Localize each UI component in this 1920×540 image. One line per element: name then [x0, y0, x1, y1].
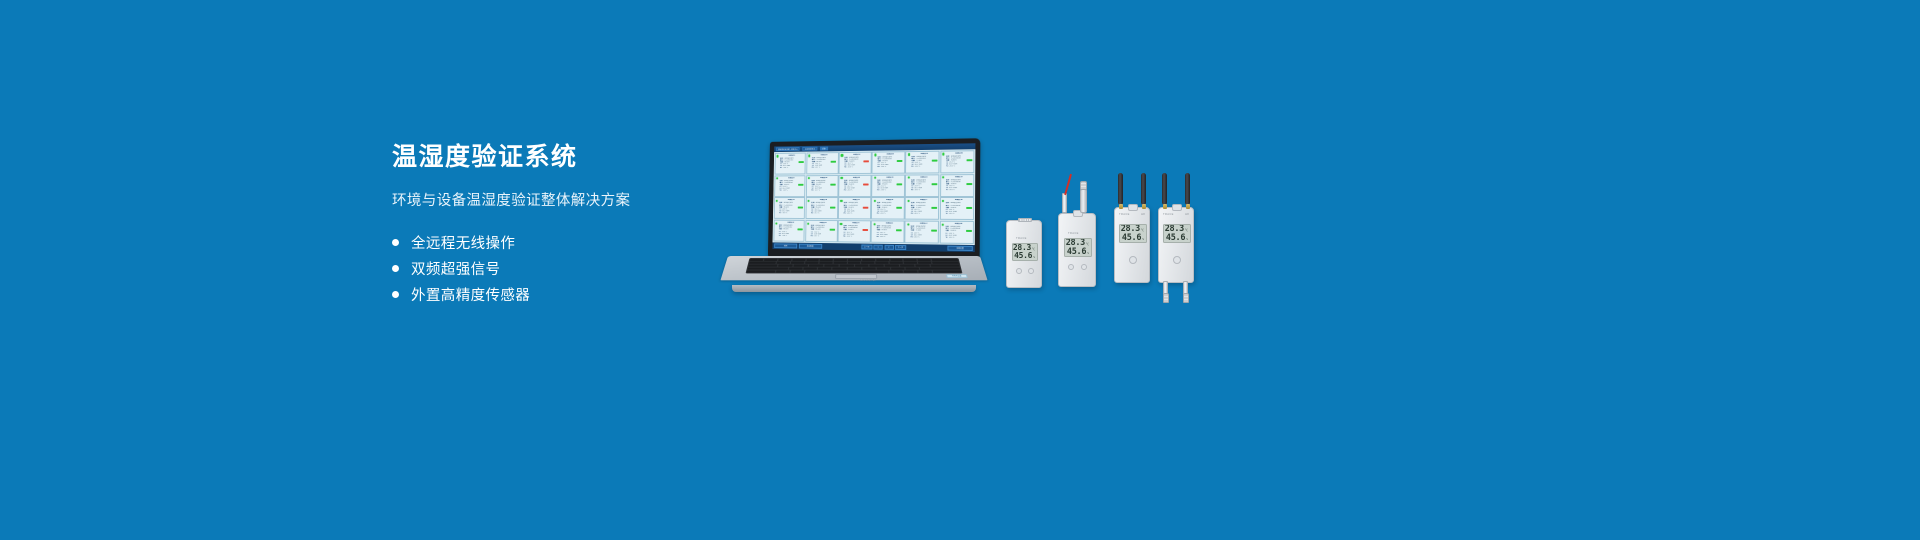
sensor-card[interactable]: 监测点14设备:温湿度记录仪编号:TC20250102电量:96.10%T1:2…: [806, 197, 838, 219]
sensor-field-value: 23.8 ℃: [782, 212, 803, 214]
sensor-card-row: H1:23.5 ℃: [946, 166, 972, 168]
sensor-field-label: H1:: [844, 167, 847, 169]
sensor-card[interactable]: 监测点06设备:温湿度记录仪编号:TC20250106电量:95.80%T1:2…: [940, 150, 975, 173]
sensor-field-label: H1:: [911, 213, 914, 215]
sensor-field-value: 23.4 ℃: [881, 189, 903, 191]
sensor-field-value: 23.8 ℃: [783, 167, 804, 169]
humidity-reading: 45.6 %: [1166, 234, 1188, 243]
antenna-left-icon: [1118, 173, 1123, 205]
bullet-dot-icon: [392, 291, 399, 298]
laptop-deck-surface: HUAWEI TRACE: [720, 256, 987, 280]
sensor-card[interactable]: 监测点17设备:温湿度记录仪编号:TC20250105电量:97.30%T1:2…: [905, 197, 939, 220]
sensor-card[interactable]: 监测点15设备:温湿度记录仪编号:TC20250103电量:91.40%T1:2…: [838, 197, 871, 219]
list-item: 全远程无线操作: [392, 230, 722, 255]
sensor-card-row: H1:23.8 ℃: [779, 190, 803, 192]
status-led-icon: [809, 155, 811, 157]
sensor-field-label: H1:: [945, 213, 948, 215]
sensor-field-value: 23.4 ℃: [880, 213, 902, 215]
probe-sensor-mesh: [1080, 181, 1087, 190]
device-brand-label: TRACE: [1163, 213, 1174, 216]
humidity-reading: 45.6 %: [1122, 234, 1144, 243]
sensor-card-row: H1:24.3 ℃: [844, 212, 869, 214]
device-display: 28.3 ℃ 45.6 %: [1012, 243, 1038, 261]
sensor-field-label: H1:: [911, 189, 914, 191]
device-button[interactable]: [1173, 256, 1181, 264]
screen-toolbar-button[interactable]: 导出数据: [798, 244, 821, 249]
sensor-field-value: 24.3 ℃: [847, 235, 868, 237]
status-led-icon: [808, 222, 810, 224]
laptop-sticker: TRACE: [946, 274, 968, 278]
sensor-field-label: H1:: [946, 189, 949, 191]
device-button[interactable]: [1016, 268, 1022, 274]
screen-toolbar-button[interactable]: 2: [884, 245, 893, 250]
laptop-base: HUAWEI TRACE: [720, 256, 988, 298]
sensor-card-row: H1:23.4 ℃: [877, 236, 902, 238]
sensor-field-label: H1:: [811, 212, 814, 214]
feature-label: 全远程无线操作: [411, 232, 515, 253]
device-button[interactable]: [1028, 268, 1034, 274]
humidity-reading: 45.6 %: [1067, 248, 1089, 257]
sensor-card-row: H1:24.3 ℃: [844, 190, 869, 192]
device-hanger: [1128, 204, 1138, 211]
sensor-field-label: H1:: [843, 235, 846, 237]
product-banner: 温湿度验证系统 环境与设备温湿度验证整体解决方案 全远程无线操作 双频超强信号 …: [0, 0, 1920, 540]
humidity-value: 45.6: [1166, 234, 1185, 243]
sensor-field-label: H1:: [811, 190, 814, 192]
toolbar-spacer: [823, 246, 860, 247]
sensor-card-row: H1:24.3 ℃: [843, 235, 868, 237]
status-led-icon: [907, 223, 909, 225]
sensor-card[interactable]: 监测点21设备:温湿度记录仪编号:TC20250103电量:91.40%T1:2…: [838, 220, 871, 243]
probe-sensor-mesh: [1163, 293, 1169, 303]
sensor-card[interactable]: 监测点20设备:温湿度记录仪编号:TC20250102电量:96.10%T1:2…: [805, 220, 837, 242]
device-display: 28.3 ℃ 45.6 %: [1163, 224, 1191, 243]
sensor-card[interactable]: 监测点23设备:温湿度记录仪编号:TC20250105电量:97.30%T1:2…: [905, 221, 939, 244]
temperature-unit: ℃: [1141, 229, 1144, 232]
page-title: 温湿度验证系统: [392, 142, 722, 172]
sensor-field-value: 23.8 ℃: [782, 235, 803, 237]
sensor-field-value: 23.4 ℃: [881, 166, 903, 168]
status-led-icon: [777, 155, 779, 157]
status-led-icon: [808, 177, 810, 179]
keyboard[interactable]: [746, 258, 963, 273]
status-led-icon: [908, 177, 910, 179]
device-model-label: H8: [1141, 213, 1145, 216]
device-logger-dual-antenna-probe: TRACE H8 28.3 ℃ 45.6 %: [1158, 207, 1194, 283]
antenna-right-icon: [1141, 173, 1146, 205]
sensor-field-value: 24.3 ℃: [847, 190, 868, 192]
sensor-card[interactable]: 监测点03设备:温湿度记录仪编号:TC20250103电量:91.40%T1:2…: [839, 151, 872, 174]
sensor-card-row: H1:23.4 ℃: [877, 166, 902, 168]
humidity-unit: %: [1142, 238, 1144, 241]
sensor-field-value: 23.7 ℃: [815, 190, 836, 192]
screen-toolbar-button[interactable]: 系统设置: [947, 246, 972, 251]
screen-toolbar-button[interactable]: 刷新: [774, 243, 797, 248]
screen-toolbar-button[interactable]: 1: [873, 245, 882, 250]
tab-history-query[interactable]: 历史数据查询: [803, 147, 818, 151]
feature-label: 外置高精度传感器: [411, 284, 530, 305]
tab-monitoring-center[interactable]: 温湿度验证系统 - 监测中心: [776, 147, 800, 151]
sensor-card[interactable]: 监测点09设备:温湿度记录仪编号:TC20250103电量:91.40%T1:2…: [838, 174, 871, 196]
status-led-icon: [840, 223, 842, 225]
sensor-card[interactable]: 监测点04设备:温湿度记录仪编号:TC20250104电量:99.00%T1:2…: [872, 151, 905, 174]
sensor-card-row: H1:23.7 ℃: [811, 235, 835, 237]
sensor-field-label: H1:: [812, 167, 815, 169]
sensor-field-label: H1:: [877, 213, 880, 215]
sensor-card[interactable]: 监测点12设备:温湿度记录仪编号:TC20250106电量:95.80%T1:2…: [940, 174, 975, 197]
probe-body: [1080, 189, 1087, 213]
sensor-field-label: H1:: [811, 235, 814, 237]
sensor-card-row: H1:24.0 ℃: [911, 189, 937, 191]
sensor-field-label: H1:: [779, 212, 782, 214]
sensor-field-label: H1:: [844, 190, 847, 192]
sensor-field-label: H1:: [911, 166, 914, 168]
humidity-unit: %: [1186, 238, 1188, 241]
sensor-field-value: 24.3 ℃: [848, 167, 869, 169]
sensor-card[interactable]: 监测点05设备:温湿度记录仪编号:TC20250105电量:97.30%T1:2…: [906, 151, 940, 174]
temperature-unit: ℃: [1032, 248, 1035, 251]
status-led-icon: [874, 200, 876, 202]
sensor-card-row: H1:23.8 ℃: [780, 167, 804, 169]
status-led-icon: [776, 177, 778, 179]
sensor-field-value: 23.5 ℃: [949, 236, 972, 238]
sensor-field-label: H1:: [779, 190, 782, 192]
sensor-field-label: H1:: [877, 189, 880, 191]
screen-toolbar-button[interactable]: 上一页: [861, 245, 872, 250]
device-display: 28.3 ℃ 45.6 %: [1064, 238, 1092, 257]
status-led-icon: [841, 154, 843, 156]
humidity-reading: 45.6 %: [1015, 252, 1035, 260]
banner-subtitle: 环境与设备温湿度验证整体解决方案: [392, 189, 722, 210]
sensor-card-row: H1:24.0 ℃: [911, 166, 937, 168]
sensor-field-label: H1:: [877, 166, 880, 168]
temperature-unit: ℃: [1185, 229, 1188, 232]
sensor-field-label: H1:: [844, 212, 847, 214]
sensor-field-label: H1:: [779, 235, 782, 237]
sensor-card[interactable]: 监测点11设备:温湿度记录仪编号:TC20250105电量:97.30%T1:2…: [905, 174, 939, 197]
list-item: 外置高精度传感器: [392, 282, 722, 307]
sensor-card[interactable]: 监测点24设备:温湿度记录仪编号:TC20250106电量:95.80%T1:2…: [939, 221, 974, 244]
sensor-field-value: 23.5 ℃: [949, 166, 972, 168]
humidity-unit: %: [1087, 252, 1089, 255]
sensor-card-row: H1:23.5 ℃: [945, 236, 971, 238]
sensor-card-row: H1:23.8 ℃: [779, 212, 803, 214]
device-display: 28.3 ℃ 45.6 %: [1119, 224, 1147, 243]
sensor-field-value: 23.7 ℃: [814, 235, 835, 237]
status-led-icon: [874, 154, 876, 156]
device-button[interactable]: [1129, 256, 1137, 264]
sensor-field-label: H1:: [911, 236, 914, 238]
antenna-left-icon: [1162, 173, 1167, 205]
list-item: 双频超强信号: [392, 256, 722, 281]
laptop-brand-label: HUAWEI: [860, 278, 877, 281]
probe-sensor-mesh: [1183, 293, 1189, 303]
status-led-icon: [942, 200, 944, 202]
sensor-card[interactable]: 监测点07设备:温湿度记录仪编号:TC20250101电量:98.50%T1:2…: [774, 175, 806, 197]
sensor-field-value: 24.0 ℃: [915, 189, 937, 191]
sensor-field-value: 23.7 ℃: [814, 212, 835, 214]
device-brand-label: TRACE: [1016, 237, 1027, 240]
sensor-card[interactable]: 监测点16设备:温湿度记录仪编号:TC20250104电量:99.00%T1:2…: [871, 197, 904, 220]
screen-toolbar-button[interactable]: 下一页: [895, 245, 906, 250]
humidity-value: 45.6: [1067, 248, 1086, 257]
laptop-screen: 温湿度验证系统 - 监测中心 历史数据查询 报警 监测点01设备:温湿度记录仪编…: [772, 143, 975, 252]
humidity-value: 45.6: [1122, 234, 1141, 243]
device-button[interactable]: [1068, 264, 1074, 270]
probe-connector: [1062, 193, 1067, 213]
sensor-card-row: H1:24.0 ℃: [911, 236, 937, 238]
toolbar-spacer: [907, 248, 946, 249]
sensor-field-value: 23.5 ℃: [949, 189, 972, 191]
sensor-card-row: H1:24.3 ℃: [844, 167, 869, 169]
status-led-icon: [776, 222, 778, 224]
humidity-unit: %: [1033, 256, 1035, 259]
device-logger-probe: TRACE 28.3 ℃ 45.6 %: [1058, 213, 1096, 287]
humidity-value: 45.6: [1014, 252, 1032, 260]
sensor-field-value: 24.0 ℃: [914, 213, 936, 215]
device-brand-label: TRACE: [1068, 232, 1079, 235]
sensor-field-value: 24.3 ℃: [847, 212, 868, 214]
sensor-field-value: 24.0 ℃: [914, 236, 936, 238]
sensor-card-grid: 监测点01设备:温湿度记录仪编号:TC20250101电量:98.50%T1:2…: [773, 149, 976, 245]
sensor-card[interactable]: 监测点18设备:温湿度记录仪编号:TC20250106电量:95.80%T1:2…: [940, 197, 975, 220]
status-led-icon: [873, 223, 875, 225]
status-led-icon: [942, 176, 944, 178]
temperature-unit: ℃: [1086, 243, 1089, 246]
sensor-card-row: H1:23.4 ℃: [877, 213, 902, 215]
sensor-card[interactable]: 监测点19设备:温湿度记录仪编号:TC20250101电量:98.50%T1:2…: [773, 220, 805, 242]
status-led-icon: [907, 200, 909, 202]
sensor-field-value: 23.8 ℃: [783, 190, 804, 192]
device-button[interactable]: [1081, 264, 1087, 270]
status-led-icon: [942, 153, 944, 155]
feature-list: 全远程无线操作 双频超强信号 外置高精度传感器: [392, 230, 722, 307]
sensor-card-row: H1:23.8 ℃: [779, 235, 803, 237]
vent-grill-icon: [1018, 218, 1032, 222]
device-logger-dual-antenna: TRACE H8 28.3 ℃ 45.6 %: [1114, 207, 1150, 283]
laptop-lid: 温湿度验证系统 - 监测中心 历史数据查询 报警 监测点01设备:温湿度记录仪编…: [768, 138, 980, 260]
sensor-field-value: 24.0 ℃: [915, 166, 937, 168]
status-led-icon: [840, 200, 842, 202]
bullet-dot-icon: [392, 265, 399, 272]
sensor-field-label: H1:: [945, 236, 948, 238]
sensor-card-row: H1:23.7 ℃: [812, 167, 836, 169]
status-led-icon: [808, 200, 810, 202]
feature-label: 双频超强信号: [411, 258, 500, 279]
sensor-card-row: H1:23.7 ℃: [811, 190, 835, 192]
sensor-card[interactable]: 监测点13设备:温湿度记录仪编号:TC20250101电量:98.50%T1:2…: [774, 197, 806, 219]
sensor-card-row: H1:23.5 ℃: [946, 189, 972, 191]
sensor-field-value: 23.7 ℃: [815, 167, 836, 169]
tab-alarm[interactable]: 报警: [820, 146, 828, 150]
laptop-illustration: 温湿度验证系统 - 监测中心 历史数据查询 报警 监测点01设备:温湿度记录仪编…: [720, 138, 988, 298]
sensor-card-row: H1:23.4 ℃: [877, 189, 902, 191]
device-group: TRACE 28.3 ℃ 45.6 % TRACE 28.3: [1000, 185, 1220, 305]
sensor-card-row: H1:24.0 ℃: [911, 213, 937, 215]
status-led-icon: [942, 223, 944, 225]
bullet-dot-icon: [392, 239, 399, 246]
sensor-field-value: 23.4 ℃: [880, 236, 902, 238]
sensor-field-label: H1:: [946, 166, 949, 168]
device-hanger: [1172, 204, 1182, 211]
status-led-icon: [841, 177, 843, 179]
probe-cable: [1064, 174, 1072, 196]
sensor-card[interactable]: 监测点01设备:温湿度记录仪编号:TC20250101电量:98.50%T1:2…: [774, 152, 806, 174]
sensor-field-label: H1:: [877, 236, 880, 238]
device-model-label: H8: [1185, 213, 1189, 216]
banner-copy: 温湿度验证系统 环境与设备温湿度验证整体解决方案 全远程无线操作 双频超强信号 …: [392, 142, 722, 308]
status-led-icon: [874, 177, 876, 179]
sensor-card[interactable]: 监测点02设备:温湿度记录仪编号:TC20250102电量:96.10%T1:2…: [806, 152, 838, 174]
device-brand-label: TRACE: [1119, 213, 1130, 216]
laptop-front-edge: [732, 285, 976, 292]
device-logger-internal: TRACE 28.3 ℃ 45.6 %: [1006, 220, 1042, 288]
sensor-card-row: H1:23.5 ℃: [945, 213, 971, 215]
status-led-icon: [776, 200, 778, 202]
status-led-icon: [908, 153, 910, 155]
sensor-field-label: H1:: [780, 167, 783, 169]
sensor-card-row: H1:23.7 ℃: [811, 212, 835, 214]
sensor-card[interactable]: 监测点22设备:温湿度记录仪编号:TC20250104电量:99.00%T1:2…: [871, 220, 905, 243]
sensor-card[interactable]: 监测点10设备:温湿度记录仪编号:TC20250104电量:99.00%T1:2…: [872, 174, 905, 197]
antenna-right-icon: [1185, 173, 1190, 205]
sensor-field-value: 23.5 ℃: [949, 213, 972, 215]
sensor-card[interactable]: 监测点08设备:温湿度记录仪编号:TC20250102电量:96.10%T1:2…: [806, 175, 838, 197]
